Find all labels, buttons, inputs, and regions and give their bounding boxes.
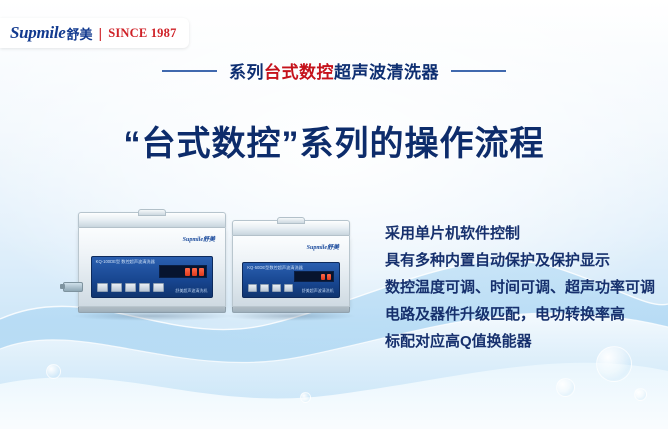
feature-item: 采用单片机软件控制 xyxy=(385,222,655,245)
panel-button xyxy=(97,283,108,292)
control-panel: KQ-100DE型 数控超声波清洗器 舒美超声波清洗机 xyxy=(91,256,214,298)
machine-lid xyxy=(232,220,350,236)
digital-display xyxy=(159,265,207,278)
bubble-decor xyxy=(634,388,647,401)
product-image-large-cleaner: Supmile舒美 KQ-100DE型 数控超声波清洗器 舒美超声波清洗机 xyxy=(78,212,226,313)
brand-name-chinese: 舒美 xyxy=(67,24,93,43)
control-panel: KQ-50DE型数控超声波清洗器 舒美超声波清洗机 xyxy=(242,262,339,298)
machine-lid xyxy=(78,212,226,228)
feature-item: 数控温度可调、时间可调、超声功率可调 xyxy=(385,276,655,299)
display-digit xyxy=(327,274,331,280)
machine-body: Supmile舒美 KQ-50DE型数控超声波清洗器 舒美超声波清洗机 xyxy=(232,236,350,307)
page-title: “台式数控”系列的操作流程 xyxy=(0,116,668,165)
feature-item: 电路及器件升级匹配，电功转换率高 xyxy=(385,303,655,326)
subtitle-text: 系列台式数控超声波清洗器 xyxy=(229,58,439,83)
panel-button xyxy=(139,283,150,292)
machine-brand-label: Supmile舒美 xyxy=(183,234,215,243)
panel-button xyxy=(125,283,136,292)
subtitle-prefix: 系列 xyxy=(229,63,264,82)
display-digit xyxy=(192,268,197,276)
bubble-decor xyxy=(556,378,575,397)
subtitle-rule-right xyxy=(451,70,506,72)
digital-display xyxy=(294,271,334,282)
panel-button xyxy=(284,284,293,292)
panel-button-row xyxy=(248,284,293,292)
brand-since-label: SINCE 1987 xyxy=(108,26,176,41)
panel-model-label: KQ-100DE型 数控超声波清洗器 xyxy=(96,259,155,265)
feature-item: 标配对应高Q值换能器 xyxy=(385,330,655,353)
display-digit xyxy=(185,268,190,276)
subtitle-highlight: 台式数控 xyxy=(264,63,334,82)
display-digit xyxy=(199,268,204,276)
feature-list: 采用单片机软件控制 具有多种内置自动保护及保护显示 数控温度可调、时间可调、超声… xyxy=(385,222,655,357)
bubble-decor xyxy=(46,364,61,379)
panel-button xyxy=(260,284,269,292)
subtitle-rule-left xyxy=(162,70,217,72)
brand-name-latin: Supmile xyxy=(10,23,66,43)
machine-brand-label: Supmile舒美 xyxy=(307,242,339,251)
panel-button xyxy=(272,284,281,292)
machine-shadow xyxy=(226,311,356,321)
machine-shadow xyxy=(71,311,234,321)
bubble-decor xyxy=(300,392,311,403)
brand-logo-bar: Supmile 舒美 | SINCE 1987 xyxy=(0,18,189,48)
panel-button-row xyxy=(97,283,164,292)
subtitle-row: 系列台式数控超声波清洗器 xyxy=(0,58,668,83)
panel-button xyxy=(153,283,164,292)
slide-canvas: Supmile 舒美 | SINCE 1987 系列台式数控超声波清洗器 “台式… xyxy=(0,0,668,429)
drain-valve xyxy=(63,282,83,292)
machine-body: Supmile舒美 KQ-100DE型 数控超声波清洗器 舒美超声波清洗机 xyxy=(78,228,226,307)
feature-item: 具有多种内置自动保护及保护显示 xyxy=(385,249,655,272)
subtitle-suffix: 超声波清洗器 xyxy=(334,63,439,82)
panel-button xyxy=(111,283,122,292)
logo-separator: | xyxy=(99,25,103,41)
panel-brand-label: 舒美超声波清洗机 xyxy=(302,288,334,294)
panel-brand-label: 舒美超声波清洗机 xyxy=(175,288,207,294)
display-digit xyxy=(321,274,325,280)
panel-button xyxy=(248,284,257,292)
product-image-small-cleaner: Supmile舒美 KQ-50DE型数控超声波清洗器 舒美超声波清洗机 xyxy=(232,220,350,313)
